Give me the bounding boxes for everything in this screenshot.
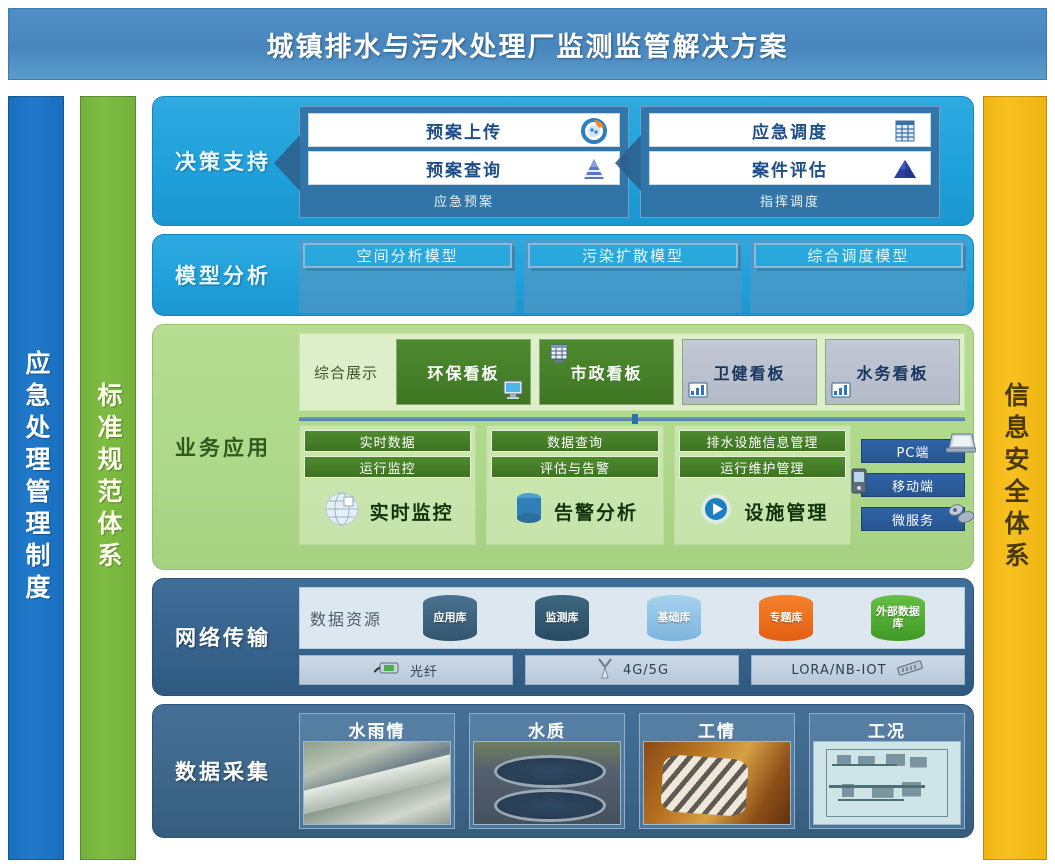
decision-item-plan-upload[interactable]: 预案上传 [308,113,620,147]
business-feature-realtime-monitoring-label: 实时监控 [370,498,454,525]
layer-business-application-label: 业务应用 [153,325,293,569]
business-feature-alarm-analysis[interactable]: 告警分析 [491,482,658,540]
business-column-alarm: 数据查询 评估与告警 告警分析 [486,425,663,545]
model-box-list: 空间分析模型 污染扩散模型 综合调度模型 [299,239,967,313]
decision-item-case-assessment[interactable]: 案件评估 [649,151,931,185]
kanban-water-affairs[interactable]: 水务看板 [825,339,960,405]
layer-business-application: 业务应用 综合展示 环保看板 [152,324,974,570]
business-divider [299,417,965,421]
business-feature-realtime-monitoring[interactable]: 实时监控 [304,482,471,540]
module-data-query[interactable]: 数据查询 [491,430,658,452]
data-resources-row: 数据资源 应用库 监测库 基础库 [299,587,965,649]
model-cell: 空间分析模型 [299,239,516,313]
module-operation-monitoring[interactable]: 运行监控 [304,456,471,478]
pillar-emergency-management-label: 应急处理管理制度 [18,350,54,606]
window-grid-icon [548,343,570,365]
pillar-information-security: 信息安全体系 [983,96,1047,860]
database-list: 应用库 监测库 基础库 专题库 [394,595,954,641]
sedimentation-tank-photo [473,741,621,825]
page-title-bar: 城镇排水与污水处理厂监测监管解决方案 [8,8,1047,80]
network-inner: 数据资源 应用库 监测库 基础库 [299,587,965,687]
decision-item-plan-query-label: 预案查询 [426,156,502,181]
kanban-municipal[interactable]: 市政看板 [539,339,674,405]
data-card-engineering-title: 工情 [643,717,791,741]
database-monitoring[interactable]: 监测库 [535,595,589,641]
pillar-standards-system: 标准规范体系 [80,96,136,860]
business-feature-facility-management-label: 设施管理 [744,498,828,525]
laptop-icon [946,432,972,452]
pillar-emergency-management: 应急处理管理制度 [8,96,64,860]
module-realtime-data[interactable]: 实时数据 [304,430,471,452]
decision-item-plan-upload-label: 预案上传 [426,118,502,143]
business-modules: 实时数据 运行监控 [299,425,965,545]
model-box-spatial[interactable]: 空间分析模型 [303,243,512,268]
network-links: 光纤 4G/5G LORA/NB-IOT [299,655,965,685]
decision-item-emergency-dispatch[interactable]: 应急调度 [649,113,931,147]
database-application-label: 应用库 [434,612,467,624]
kanban-water-affairs-label: 水务看板 [856,360,928,384]
endpoint-microservice[interactable]: 微服务 [861,507,965,531]
data-card-list: 水雨情 水质 工情 工况 [299,713,965,829]
page-title: 城镇排水与污水处理厂监测监管解决方案 [267,25,789,64]
network-link-lora-label: LORA/NB-IOT [791,663,886,678]
kanban-health[interactable]: 卫健看板 [682,339,817,405]
database-external-label: 外部数据库 [871,606,925,630]
antenna-icon [595,657,615,683]
business-column-monitoring: 实时数据 运行监控 [299,425,476,545]
network-link-fiber[interactable]: 光纤 [299,655,513,685]
layer-network-transmission-label: 网络传输 [153,579,293,695]
pyramid-dark-icon [892,156,918,182]
database-external[interactable]: 外部数据库 [871,595,925,641]
scada-schematic-photo [813,741,961,825]
endpoint-pc[interactable]: PC端 [861,439,965,463]
network-link-cellular[interactable]: 4G/5G [525,655,739,685]
network-link-cellular-label: 4G/5G [623,663,669,678]
database-thematic[interactable]: 专题库 [759,595,813,641]
business-inner: 综合展示 环保看板 [299,333,965,561]
decision-item-case-assessment-label: 案件评估 [752,156,828,181]
pipeline-photo [643,741,791,825]
refresh-cycle-icon [581,118,607,144]
layer-model-analysis: 模型分析 空间分析模型 污染扩散模型 综合调度模型 [152,234,974,316]
database-icon [512,489,546,533]
kanban-environment-label: 环保看板 [427,360,499,384]
layer-data-acquisition-label: 数据采集 [153,705,293,837]
decision-group-command-dispatch-caption: 指挥调度 [649,189,931,210]
business-feature-facility-management[interactable]: 设施管理 [679,482,846,540]
endpoint-microservice-label: 微服务 [892,510,934,529]
endpoint-mobile[interactable]: 移动端 [861,473,965,497]
business-column-facility: 排水设施信息管理 运行维护管理 设施管理 [674,425,851,545]
kanban-municipal-label: 市政看板 [570,360,642,384]
decision-group-emergency-plan: 预案上传 预案查询 [299,106,629,218]
kanban-environment[interactable]: 环保看板 [396,339,531,405]
layer-decision-support-label: 决策支持 [153,97,293,225]
endpoint-mobile-label: 移动端 [892,476,934,495]
database-application[interactable]: 应用库 [423,595,477,641]
database-basic[interactable]: 基础库 [647,595,701,641]
data-card-working-condition[interactable]: 工况 [809,713,965,829]
data-card-working-condition-title: 工况 [813,717,961,741]
model-box-pollution[interactable]: 污染扩散模型 [528,243,737,268]
data-card-engineering[interactable]: 工情 [639,713,795,829]
mobile-phone-icon [850,468,868,494]
model-box-dispatch[interactable]: 综合调度模型 [754,243,963,268]
fiber-cable-icon [374,660,402,680]
play-circle-icon [696,489,736,533]
pyramid-icon [581,156,607,182]
data-card-hydrology[interactable]: 水雨情 [299,713,455,829]
client-endpoints: PC端 [861,425,965,545]
layer-model-analysis-label: 模型分析 [153,235,293,315]
database-thematic-label: 专题库 [769,612,802,624]
data-card-hydrology-title: 水雨情 [303,717,451,741]
architecture-diagram: 城镇排水与污水处理厂监测监管解决方案 应急处理管理制度 标准规范体系 信息安全体… [0,0,1055,868]
database-basic-label: 基础库 [657,612,690,624]
module-drainage-facility-info[interactable]: 排水设施信息管理 [679,430,846,452]
comprehensive-display-label: 综合展示 [300,334,392,410]
decision-group-command-dispatch: 应急调度 案件评估 [640,106,940,218]
chart-board-icon [687,379,709,401]
grid-table-icon [892,118,918,144]
decision-item-emergency-dispatch-label: 应急调度 [752,118,828,143]
chart-board-icon [830,379,852,401]
comprehensive-display-row: 综合展示 环保看板 [299,333,965,411]
network-link-lora[interactable]: LORA/NB-IOT [751,655,965,685]
model-cell: 污染扩散模型 [524,239,741,313]
layer-network-transmission: 网络传输 数据资源 应用库 监测库 [152,578,974,696]
canal-photo [303,741,451,825]
decision-group-emergency-plan-caption: 应急预案 [308,189,620,210]
pillar-information-security-label: 信息安全体系 [997,382,1033,574]
layer-data-acquisition: 数据采集 水雨情 水质 工情 工况 [152,704,974,838]
pillar-standards-system-label: 标准规范体系 [90,382,126,574]
decision-item-plan-query[interactable]: 预案查询 [308,151,620,185]
module-assessment-alarm[interactable]: 评估与告警 [491,456,658,478]
sensor-module-icon [895,660,925,680]
devices-icon [946,502,976,526]
data-resources-label: 数据资源 [310,606,382,630]
layer-decision-support: 决策支持 预案上传 预案查询 [152,96,974,226]
data-card-water-quality[interactable]: 水质 [469,713,625,829]
business-feature-alarm-analysis-label: 告警分析 [554,498,638,525]
data-card-water-quality-title: 水质 [473,717,621,741]
monitor-icon [502,378,524,400]
globe-icon [322,489,362,533]
database-monitoring-label: 监测库 [545,612,578,624]
endpoint-pc-label: PC端 [897,442,930,461]
model-cell: 综合调度模型 [750,239,967,313]
kanban-health-label: 卫健看板 [713,360,785,384]
module-operation-maintenance[interactable]: 运行维护管理 [679,456,846,478]
layer-stack: 决策支持 预案上传 预案查询 [152,96,974,846]
network-link-fiber-label: 光纤 [410,661,438,680]
